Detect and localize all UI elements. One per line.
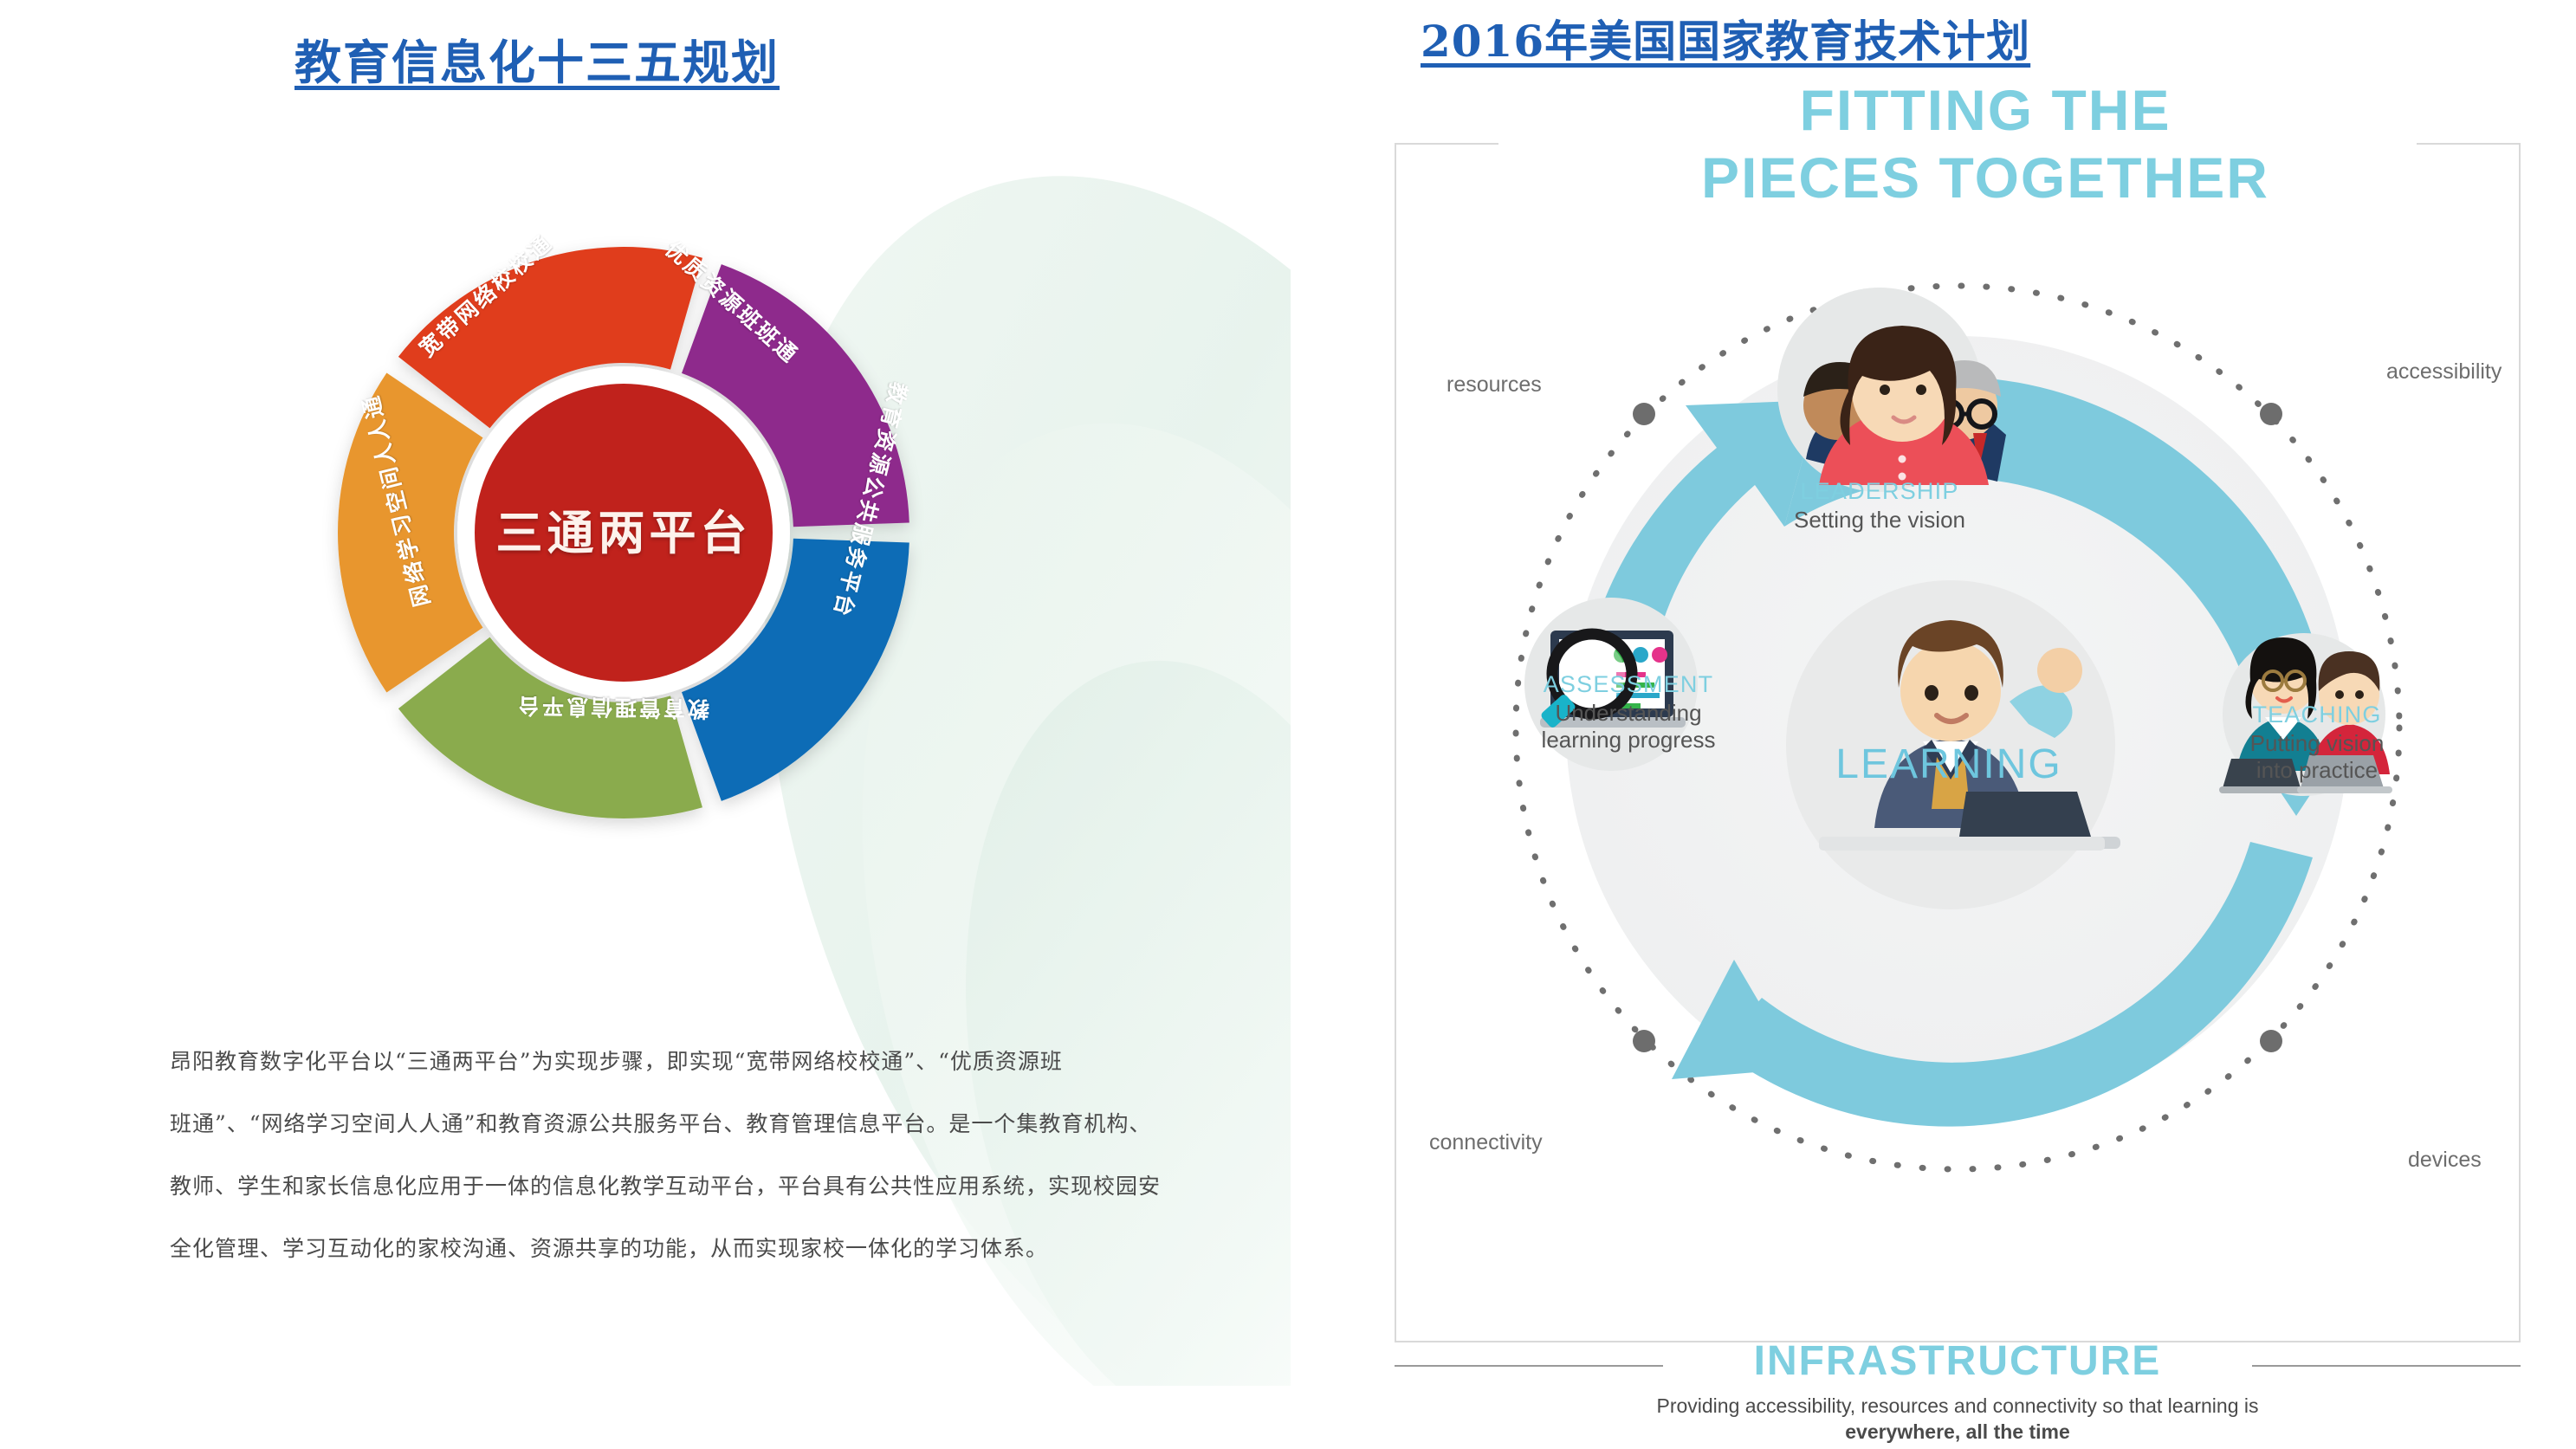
teaching-sub-line-2: into practice: [2174, 757, 2460, 784]
teaching-sub-line-1: Putting vision: [2174, 730, 2460, 757]
node-subtitle-teaching: Putting vision into practice: [2174, 730, 2460, 784]
orbit-label-devices: devices: [2408, 1148, 2482, 1173]
orbit-dot-accessibility: [2260, 403, 2282, 425]
orbit-label-resources: resources: [1447, 372, 1542, 398]
learning-ecosystem-diagram: resources accessibility connectivity dev…: [1412, 173, 2503, 1265]
node-title-assessment: ASSESSMENT: [1464, 671, 1793, 698]
assessment-sub-line-1: Understanding: [1464, 700, 1793, 727]
paragraph-line-3: 教师、学生和家长信息化应用于一体的信息化教学互动平台，平台具有公共性应用系统，实…: [170, 1155, 1287, 1218]
left-slide-title: 教育信息化十三五规划: [294, 24, 780, 93]
infrastructure-header-row: INFRASTRUCTURE: [1395, 1341, 2521, 1389]
header-line-1: FITTING THE: [1395, 76, 2576, 144]
orbit-label-connectivity: connectivity: [1429, 1130, 1543, 1155]
orbit-label-accessibility: accessibility: [2386, 359, 2502, 385]
left-description-paragraph: 昂阳教育数字化平台以“三通两平台”为实现步骤，即实现“宽带网络校校通”、“优质资…: [170, 1031, 1287, 1280]
infrastructure-sub-line-1: Providing accessibility, resources and c…: [1395, 1393, 2521, 1419]
paragraph-line-2: 班通”、“网络学习空间人人通”和教育资源公共服务平台、教育管理信息平台。是一个集…: [170, 1093, 1287, 1155]
center-label-learning: LEARNING: [1715, 741, 2183, 788]
infrastructure-sub-line-2: everywhere, all the time: [1395, 1419, 2521, 1445]
orbit-dot-connectivity: [1633, 1030, 1655, 1052]
node-title-leadership: LEADERSHIP: [1698, 478, 2061, 505]
node-title-teaching: TEACHING: [2174, 702, 2460, 728]
donut-chart-svg: [269, 165, 979, 901]
node-subtitle-leadership: Setting the vision: [1698, 507, 2061, 534]
infrastructure-sub-line-2-bold: everywhere, all the time: [1845, 1420, 2070, 1443]
orbit-dot-devices: [2260, 1030, 2282, 1052]
paragraph-line-1: 昂阳教育数字化平台以“三通两平台”为实现步骤，即实现“宽带网络校校通”、“优质资…: [170, 1031, 1287, 1093]
infrastructure-subtitle: Providing accessibility, resources and c…: [1395, 1393, 2521, 1445]
leadership-illustration: [1777, 288, 2006, 492]
orbit-dot-resources: [1633, 403, 1655, 425]
donut-core: [475, 384, 773, 682]
three-links-two-platforms-donut: 宽带网络校校通 优质资源班班通 教育资源公共服务平台 教育管理信息平台 网络学习…: [269, 165, 979, 901]
right-panel: FITTING THE PIECES TOGETHER: [1395, 0, 2576, 1449]
infrastructure-title: INFRASTRUCTURE: [1395, 1337, 2521, 1385]
paragraph-line-4: 全化管理、学习互动化的家校沟通、资源共享的功能，从而实现家校一体化的学习体系。: [170, 1218, 1287, 1280]
